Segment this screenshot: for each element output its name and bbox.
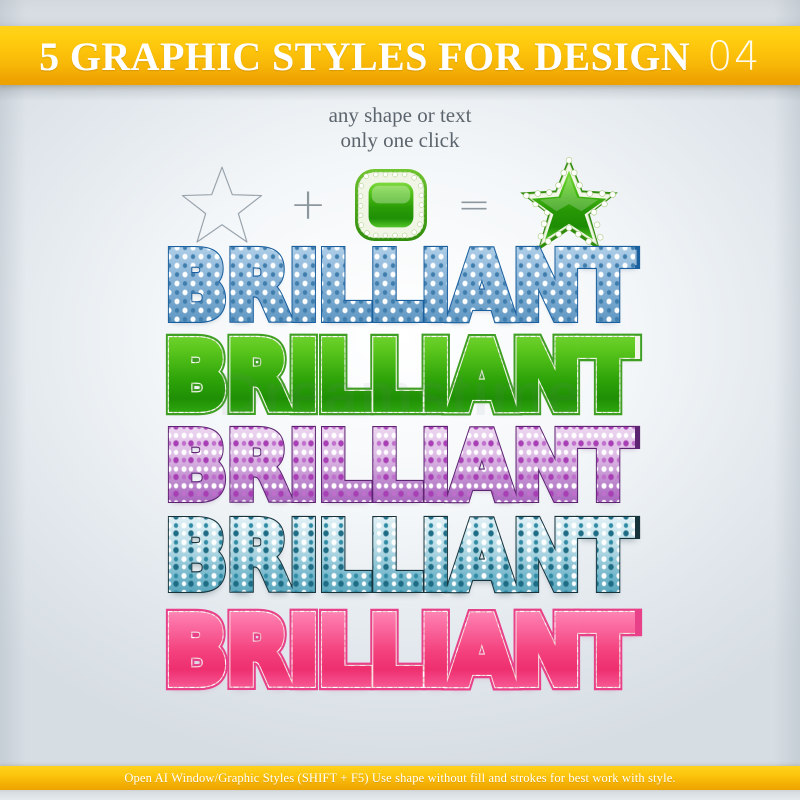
sample-word-blue: BRILLIANT BRILLIANT BRILLIANT xyxy=(165,242,635,334)
style-sample-blue[interactable]: BRILLIANT BRILLIANT BRILLIANT xyxy=(0,243,800,333)
style-sample-green[interactable]: BRILLIANT BRILLIANT BRILLIANT BRILLIANT xyxy=(0,333,800,423)
sample-word-pink: BRILLIANT BRILLIANT BRILLIANT xyxy=(165,607,635,699)
subtitle-block: any shape or text only one click xyxy=(0,103,800,153)
subtitle-line-2: only one click xyxy=(0,128,800,153)
sample-word-teal-fill: BRILLIANT xyxy=(165,504,635,610)
poster-canvas: 5 GRAPHIC STYLES FOR DESIGN 04 any shape… xyxy=(0,0,800,800)
top-edge-strip xyxy=(0,0,800,26)
header-bar: 5 GRAPHIC STYLES FOR DESIGN 04 xyxy=(0,26,800,85)
style-sample-teal[interactable]: BRILLIANT BRILLIANT xyxy=(0,513,800,603)
page-title: 5 GRAPHIC STYLES FOR DESIGN xyxy=(39,33,690,80)
footer-bar: Open AI Window/Graphic Styles (SHIFT + F… xyxy=(0,766,800,790)
style-sample-purple[interactable]: BRILLIANT BRILLIANT xyxy=(0,423,800,513)
sample-word-purple: BRILLIANT BRILLIANT xyxy=(165,422,635,514)
style-sample-pink[interactable]: BRILLIANT BRILLIANT BRILLIANT xyxy=(0,603,800,703)
plus-operator: + xyxy=(281,183,335,227)
sample-word-teal: BRILLIANT BRILLIANT xyxy=(165,512,635,604)
sample-word-green: BRILLIANT BRILLIANT BRILLIANT BRILLIANT xyxy=(165,332,635,424)
sample-word-pink-fill: BRILLIANT xyxy=(165,599,635,705)
bottom-edge-strip xyxy=(0,790,800,800)
footer-instructions: Open AI Window/Graphic Styles (SHIFT + F… xyxy=(124,771,675,786)
style-samples-list: BRILLIANT BRILLIANT BRILLIANT BRILLIANT … xyxy=(0,243,800,703)
subtitle-line-1: any shape or text xyxy=(0,103,800,128)
header-drop-shadow xyxy=(0,85,800,101)
equals-operator: = xyxy=(447,185,501,225)
header-inner: 5 GRAPHIC STYLES FOR DESIGN 04 xyxy=(39,33,761,80)
header-issue-number: 04 xyxy=(707,34,761,80)
